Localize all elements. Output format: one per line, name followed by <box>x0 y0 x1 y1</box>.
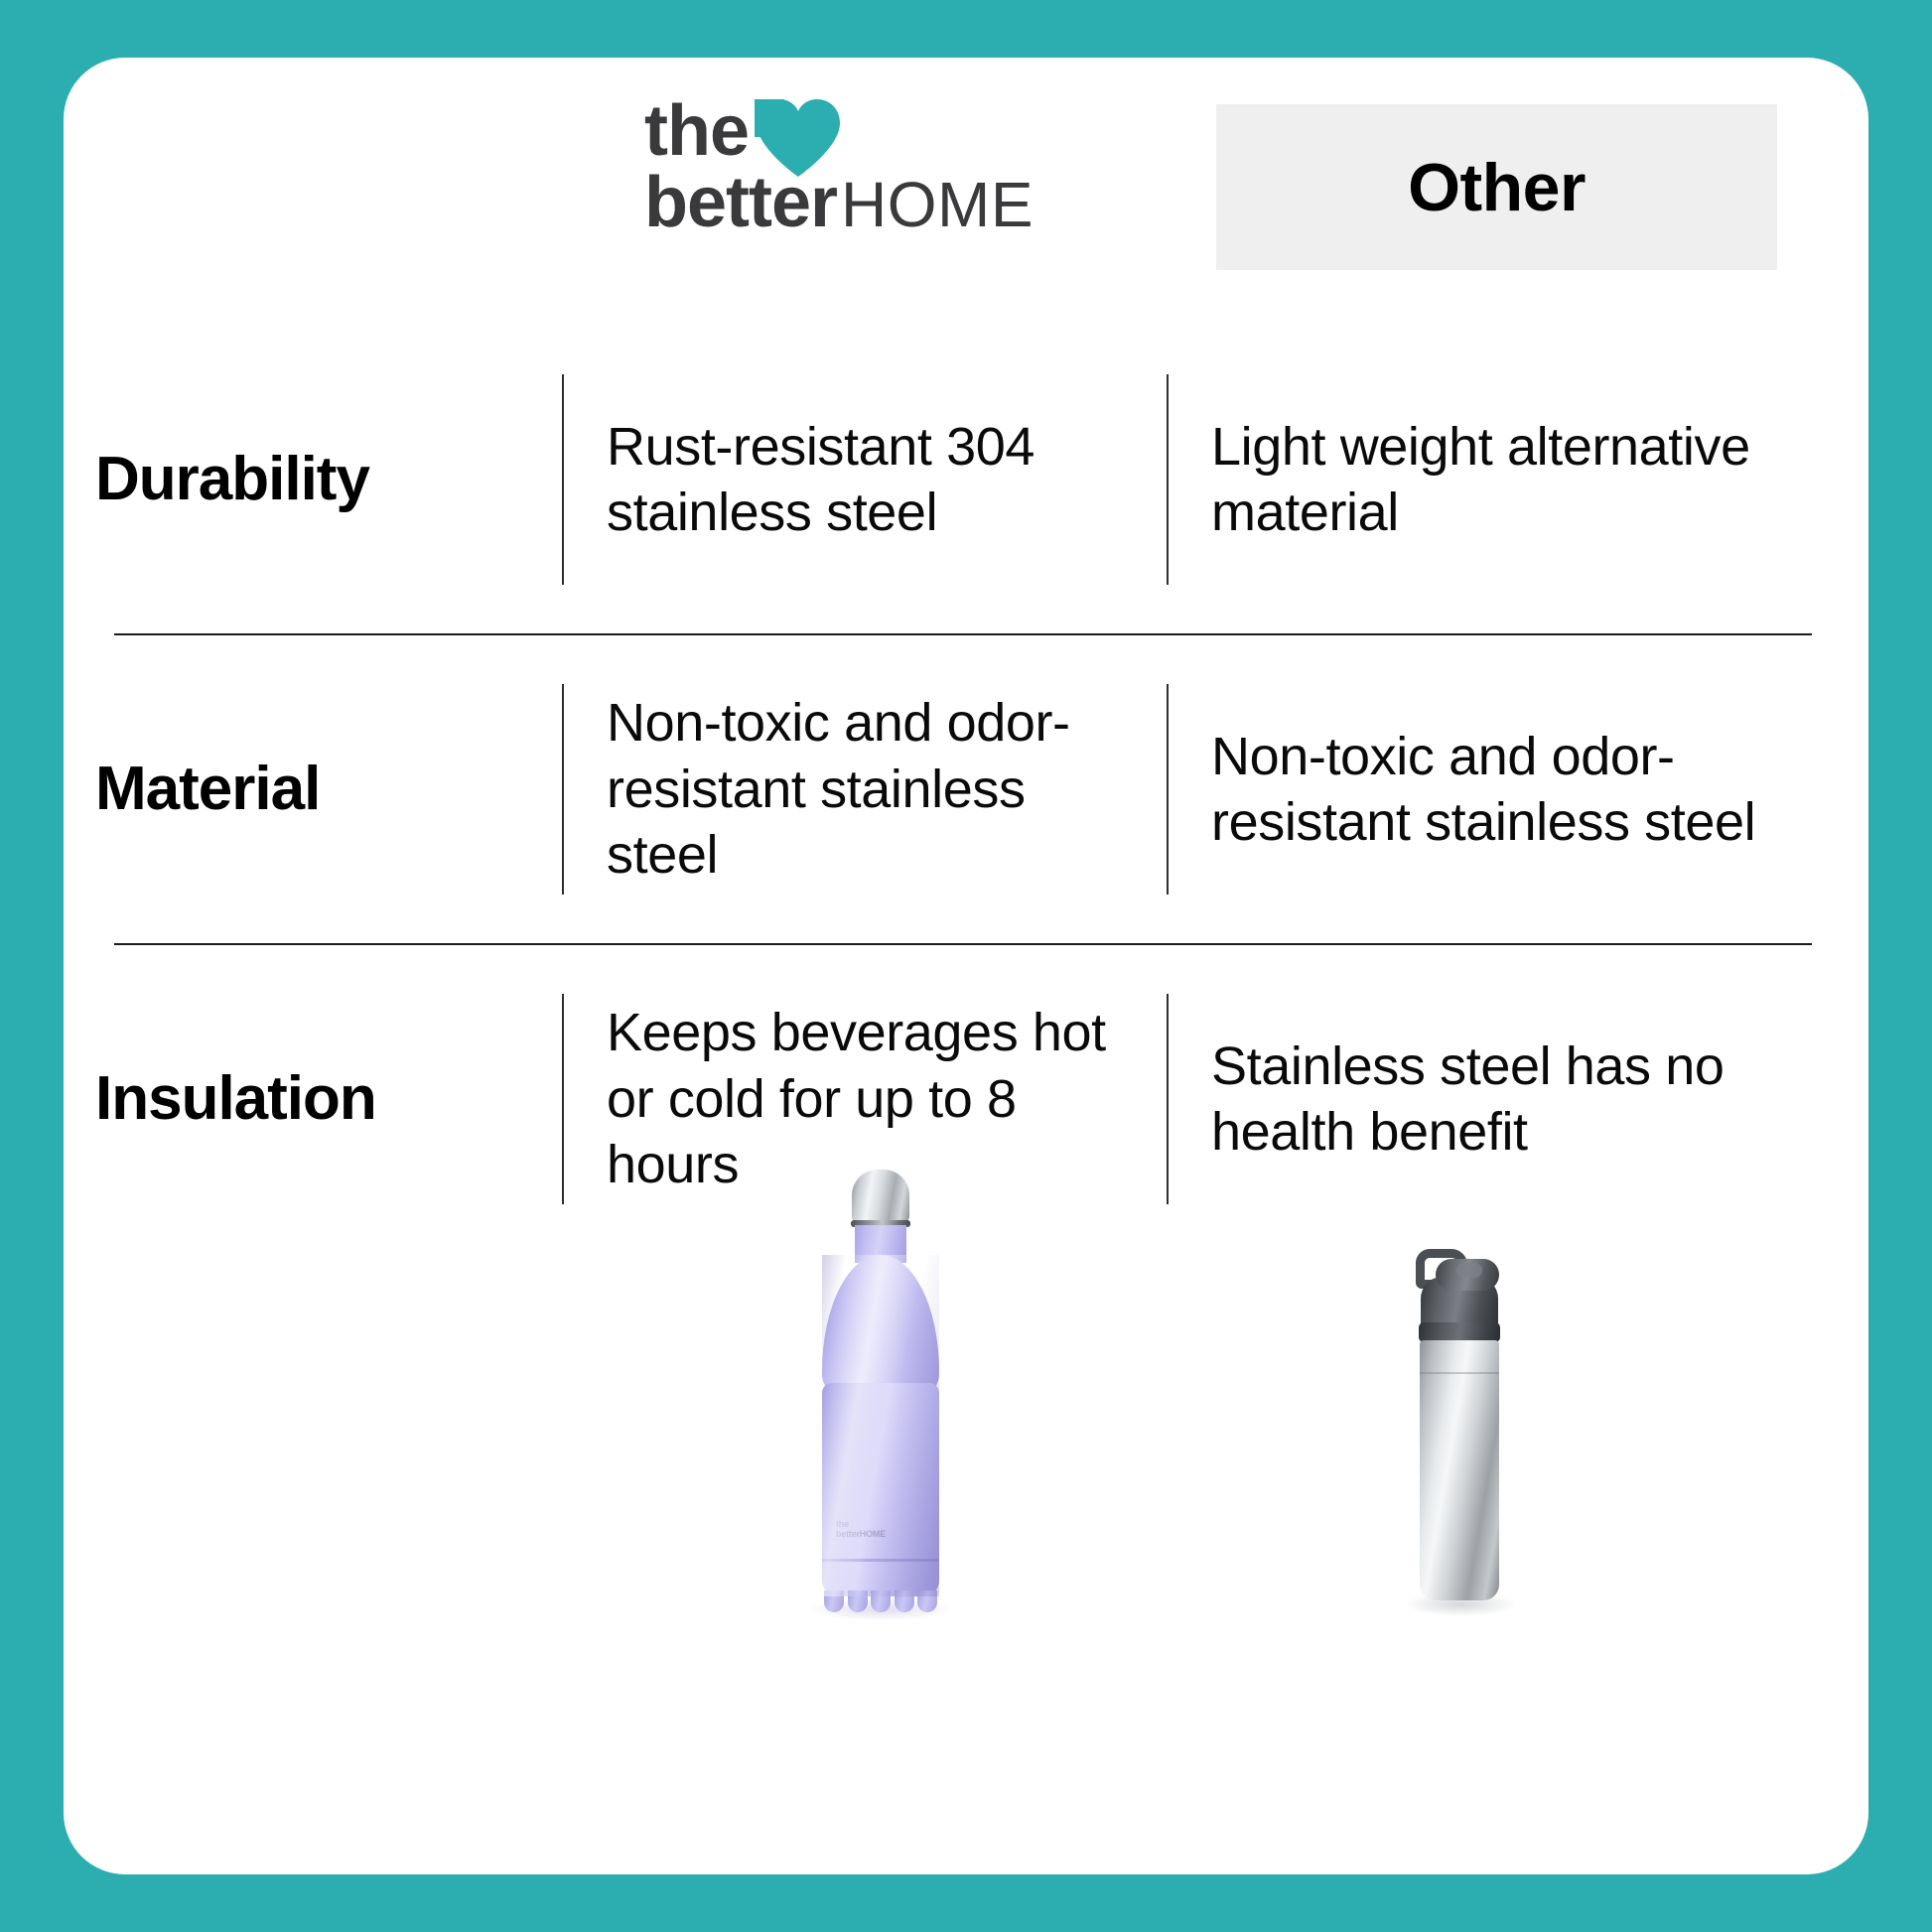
ours-cell-text: Keeps beverages hot or cold for up to 8 … <box>562 1000 1167 1197</box>
table-body: Durability Rust-resistant 304 stainless … <box>64 326 1868 1253</box>
bottle-other-body <box>1420 1340 1499 1600</box>
bottle-other-collar <box>1419 1322 1500 1342</box>
bottle-print-line-two: betterHOME <box>836 1529 897 1539</box>
brand-logo: the better HOME <box>644 95 1071 264</box>
bottle-ours-cap <box>852 1170 909 1223</box>
cell-vertical-rule <box>1167 374 1169 585</box>
product-image-ours: the betterHOME <box>810 1170 951 1614</box>
brand-logo-line-two: better HOME <box>644 167 1034 238</box>
other-column-header: Other <box>1216 104 1777 270</box>
product-image-stage: the betterHOME <box>64 1170 1868 1874</box>
cell-vertical-rule <box>562 374 564 585</box>
feature-cell: Insulation <box>64 1063 562 1134</box>
brand-logo-home: HOME <box>841 173 1034 236</box>
bottle-ours-base-ridges <box>824 1590 937 1612</box>
feature-label: Material <box>95 754 320 824</box>
other-cell: Non-toxic and odor-resistant stainless s… <box>1167 635 1868 943</box>
cell-vertical-rule <box>562 684 564 895</box>
bottle-other-body-seam <box>1420 1372 1499 1374</box>
table-row: Material Non-toxic and odor-resistant st… <box>64 635 1868 943</box>
feature-label: Durability <box>95 444 369 514</box>
bottle-print-line-one: the <box>836 1519 897 1529</box>
other-cell: Light weight alternative material <box>1167 326 1868 633</box>
ours-cell: Non-toxic and odor-resistant stainless s… <box>562 635 1167 943</box>
other-cell-text: Light weight alternative material <box>1167 414 1868 546</box>
feature-cell: Durability <box>64 444 562 514</box>
ours-cell-text: Rust-resistant 304 stainless steel <box>562 414 1167 546</box>
table-row: Durability Rust-resistant 304 stainless … <box>64 326 1868 633</box>
product-image-other <box>1389 1247 1524 1616</box>
bottle-ours-brand-print: the betterHOME <box>836 1519 897 1545</box>
other-column-label: Other <box>1408 149 1586 226</box>
bottle-ours-base-seam <box>822 1559 939 1562</box>
bottle-ours-body <box>822 1383 939 1596</box>
other-cell-text: Non-toxic and odor-resistant stainless s… <box>1167 724 1868 856</box>
table-header: the better HOME Other <box>64 58 1868 326</box>
ours-cell-text: Non-toxic and odor-resistant stainless s… <box>562 690 1167 888</box>
comparison-card: the better HOME Other Durability <box>64 58 1868 1874</box>
brand-logo-better: better <box>644 167 837 238</box>
ours-cell: Rust-resistant 304 stainless steel <box>562 326 1167 633</box>
feature-cell: Material <box>64 754 562 824</box>
bottle-other-cap-spout <box>1456 1263 1482 1278</box>
other-cell-text: Stainless steel has no health benefit <box>1167 1034 1868 1166</box>
bottle-ours-shoulder <box>822 1255 939 1404</box>
brand-logo-line-one: the <box>644 95 749 167</box>
feature-label: Insulation <box>95 1063 376 1134</box>
cell-vertical-rule <box>1167 684 1169 895</box>
